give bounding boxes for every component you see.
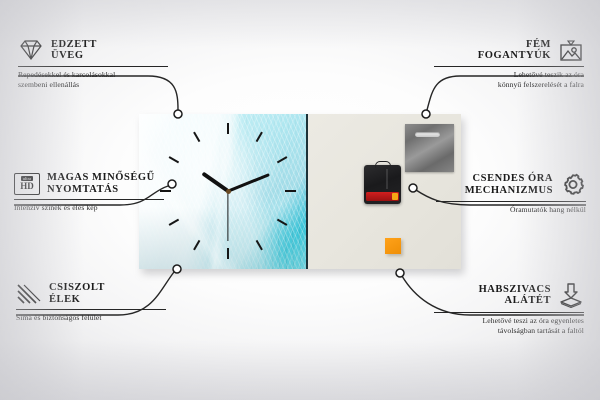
feature-header: CSENDES ÓRA MECHANIZMUS xyxy=(436,172,586,197)
feature-csiszolt-elek: CSISZOLT ÉLEK Sima és biztonságos felüle… xyxy=(16,282,166,323)
feature-description: Repedésekkel és karcolásokkal szembeni e… xyxy=(18,70,168,89)
feature-divider xyxy=(14,199,164,200)
feature-csendes-ora-mechanizmus: CSENDES ÓRA MECHANIZMUS Óramutatók hang … xyxy=(436,172,586,215)
feature-description: Intenzív színek és éles kép xyxy=(14,203,164,213)
metal-hanger xyxy=(405,124,454,172)
feature-divider xyxy=(434,312,584,313)
feature-title: MAGAS MINŐSÉGŰ NYOMTATÁS xyxy=(47,172,155,195)
feature-description: Lehetővé teszik az óra könnyű felszerelé… xyxy=(434,70,584,89)
foam-pad xyxy=(385,238,401,254)
feature-fem-fogantyuk: FÉM FOGANTYÚK Lehetővé teszik az óra kön… xyxy=(434,38,584,89)
wall-mount-frame-icon xyxy=(558,38,584,62)
diamond-icon xyxy=(18,38,44,62)
clock-mechanism xyxy=(364,165,401,204)
clock-tick xyxy=(277,156,288,163)
foam-pad-arrow-icon xyxy=(558,282,584,308)
clock-tick xyxy=(227,123,229,134)
clock-tick xyxy=(285,190,296,192)
clock-center-cap xyxy=(226,189,231,194)
feature-edzett-uveg: EDZETT ÜVEG Repedésekkel és karcolásokka… xyxy=(18,38,168,89)
feature-header: HABSZIVACS ALÁTÉT xyxy=(434,282,584,308)
feature-header: FÉM FOGANTYÚK xyxy=(434,38,584,62)
feature-title: HABSZIVACS ALÁTÉT xyxy=(479,284,551,307)
feature-habszivacs-alatet: HABSZIVACS ALÁTÉT Lehetővé teszi az óra … xyxy=(434,282,584,335)
clock-face xyxy=(157,120,299,262)
feature-magas-minosegu-nyomtatas: ultra HD MAGAS MINŐSÉGŰ NYOMTATÁS Intenz… xyxy=(14,172,164,213)
feature-title: EDZETT ÜVEG xyxy=(51,39,97,62)
feature-description: Lehetővé teszi az óra egyenletes távolsá… xyxy=(434,316,584,335)
feature-title: CSENDES ÓRA MECHANIZMUS xyxy=(465,173,553,196)
ultra-hd-badge-icon: ultra HD xyxy=(14,173,40,195)
glass-clock-face-panel xyxy=(139,114,308,269)
clock-tick xyxy=(277,219,288,226)
feature-divider xyxy=(436,201,586,202)
polished-edges-icon xyxy=(16,283,42,305)
feature-divider xyxy=(16,309,166,310)
clock-tick xyxy=(193,240,200,251)
product-photo xyxy=(139,114,461,269)
feature-divider xyxy=(18,66,168,67)
feature-description: Óramutatók hang nélkül xyxy=(436,205,586,215)
feature-header: CSISZOLT ÉLEK xyxy=(16,282,166,305)
feature-title: CSISZOLT ÉLEK xyxy=(49,282,105,305)
feature-header: EDZETT ÜVEG xyxy=(18,38,168,62)
clock-minute-hand xyxy=(227,173,269,192)
clock-second-hand xyxy=(227,191,228,241)
feature-description: Sima és biztonságos felület xyxy=(16,313,166,323)
clock-tick xyxy=(256,132,263,143)
mechanism-shaft xyxy=(375,161,391,168)
battery xyxy=(366,192,399,201)
clock-tick xyxy=(227,248,229,259)
hanger-slot xyxy=(415,132,440,137)
clock-hour-hand xyxy=(201,172,229,193)
infographic-canvas: EDZETT ÜVEG Repedésekkel és karcolásokka… xyxy=(0,0,600,400)
clock-tick xyxy=(169,219,180,226)
feature-header: ultra HD MAGAS MINŐSÉGŰ NYOMTATÁS xyxy=(14,172,164,195)
feature-title: FÉM FOGANTYÚK xyxy=(478,39,551,62)
clock-tick xyxy=(256,240,263,251)
feature-divider xyxy=(434,66,584,67)
gear-icon xyxy=(560,172,586,197)
clock-tick xyxy=(169,156,180,163)
mechanism-seam xyxy=(386,169,388,189)
clock-tick xyxy=(193,132,200,143)
